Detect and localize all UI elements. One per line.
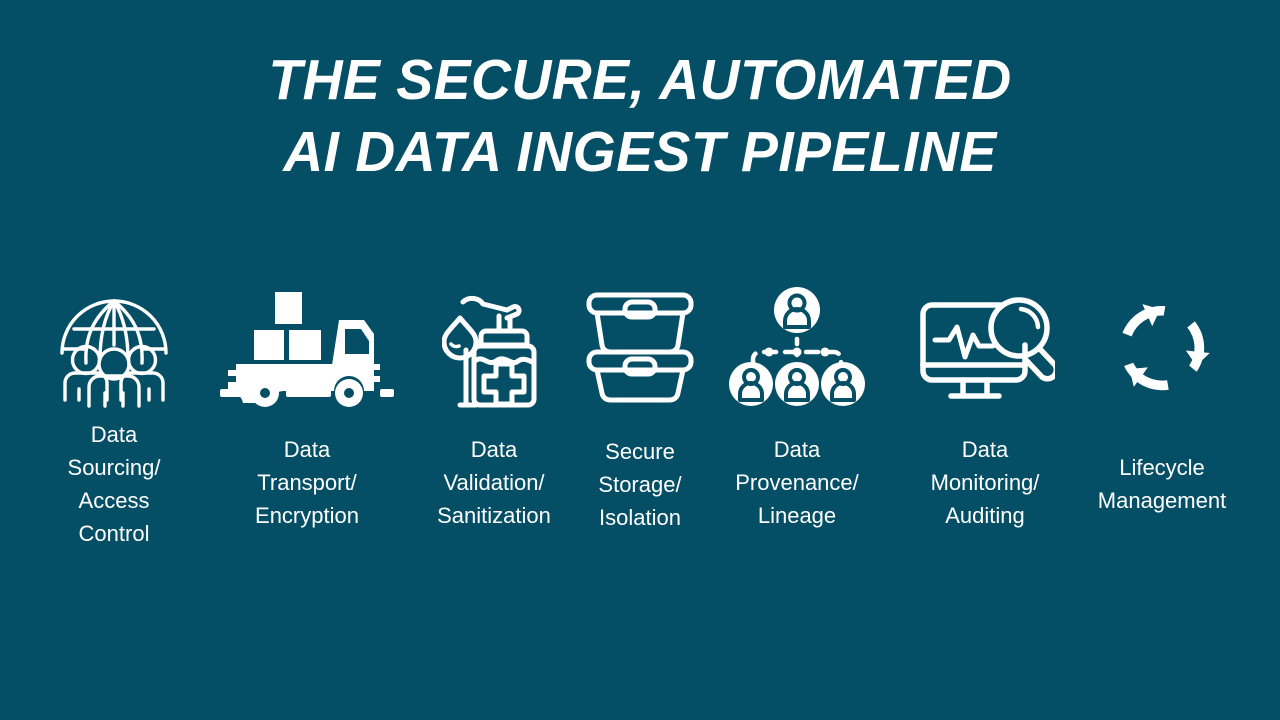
globe-people-icon xyxy=(24,282,204,414)
org-hierarchy-people-icon xyxy=(707,282,887,414)
delivery-truck-icon xyxy=(217,282,397,414)
page-title: THE SECURE, AUTOMATED AI DATA INGEST PIP… xyxy=(0,44,1280,188)
pipeline-step-label: Data Transport/ Encryption xyxy=(217,433,397,532)
pipeline-step-label: Data Monitoring/ Auditing xyxy=(895,433,1075,532)
pipeline-step-label: Lifecycle Management xyxy=(1062,451,1262,517)
pipeline-step-data-transport-encryption[interactable]: Data Transport/ Encryption xyxy=(217,282,397,532)
pipeline-step-label: Secure Storage/ Isolation xyxy=(550,435,730,534)
pipeline-step-secure-storage-isolation[interactable]: Secure Storage/ Isolation xyxy=(550,282,730,534)
pipeline-steps-row: Data Sourcing/ Access Control xyxy=(0,282,1280,602)
pipeline-step-lifecycle-management[interactable]: Lifecycle Management xyxy=(1062,282,1262,517)
stacked-storage-containers-icon xyxy=(550,282,730,414)
monitor-heartbeat-magnifier-icon xyxy=(895,282,1075,414)
circular-arrows-lifecycle-icon xyxy=(1062,282,1262,414)
pipeline-step-data-monitoring-auditing[interactable]: Data Monitoring/ Auditing xyxy=(895,282,1075,532)
slide-canvas: THE SECURE, AUTOMATED AI DATA INGEST PIP… xyxy=(0,0,1280,720)
title-line-1: THE SECURE, AUTOMATED xyxy=(19,44,1261,116)
pipeline-step-data-provenance-lineage[interactable]: Data Provenance/ Lineage xyxy=(707,282,887,532)
pipeline-step-data-sourcing-access-control[interactable]: Data Sourcing/ Access Control xyxy=(24,282,204,550)
pipeline-step-label: Data Sourcing/ Access Control xyxy=(24,418,204,550)
title-line-2: AI DATA INGEST PIPELINE xyxy=(19,116,1261,188)
pipeline-step-label: Data Provenance/ Lineage xyxy=(707,433,887,532)
